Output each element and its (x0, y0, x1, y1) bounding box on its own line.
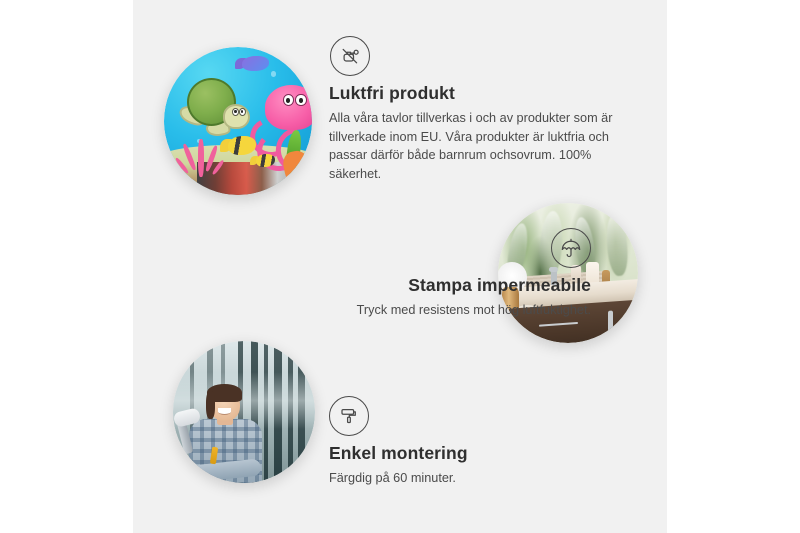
drawer-handle (539, 322, 577, 327)
feature-assembly-icon-row (329, 396, 629, 436)
paint-roller-icon (329, 396, 369, 436)
underwater-cartoon-turtle-octopus-photo (164, 47, 312, 195)
fish-body (256, 154, 275, 167)
feature-assembly-title: Enkel montering (329, 443, 629, 465)
woman-figure (182, 378, 270, 483)
feature-waterproof: Stampa impermeabile Tryck med resistens … (219, 228, 591, 320)
fish-body (228, 136, 256, 155)
feature-assembly-body: Färgdig på 60 minuter. (329, 469, 629, 488)
feature-assembly: Enkel montering Färgdig på 60 minuter. (329, 396, 629, 488)
fish-illustration (242, 56, 269, 71)
woman-paint-roller-forest-photo (173, 341, 315, 483)
cabinet-handle (608, 310, 613, 335)
feature-odourless: Luktfri produkt Alla våra tavlor tillver… (329, 36, 629, 184)
coral-branch (198, 139, 203, 177)
feature-odourless-icon-row (329, 36, 629, 76)
octopus-eye (283, 94, 294, 106)
feature-waterproof-title: Stampa impermeabile (219, 275, 591, 297)
octopus-head (265, 85, 312, 130)
fish-illustration (228, 136, 256, 155)
feature-panel: Luktfri produkt Alla våra tavlor tillver… (133, 0, 667, 533)
bubble-icon (271, 71, 277, 77)
turtle-head (223, 104, 250, 129)
feature-waterproof-icon-row (219, 228, 591, 268)
smile (218, 408, 230, 414)
feature-odourless-title: Luktfri produkt (329, 83, 629, 105)
turtle-eye (239, 108, 246, 116)
leaf-motif (605, 213, 630, 276)
feature-odourless-body: Alla våra tavlor tillverkas i och av pro… (329, 109, 629, 184)
octopus-illustration (253, 85, 312, 162)
umbrella-icon (551, 228, 591, 268)
hair (206, 391, 215, 419)
octopus-eye (295, 94, 306, 106)
screenshot-root: Luktfri produkt Alla våra tavlor tillver… (0, 0, 800, 533)
fish-illustration (256, 154, 275, 167)
coral-illustration (179, 127, 223, 177)
feature-waterproof-body: Tryck med resistens mot hög luftfuktighe… (219, 301, 591, 320)
coral-branch (211, 159, 225, 175)
fish-body (242, 56, 269, 71)
no-fragrance-spray-bottle-icon (330, 36, 370, 76)
